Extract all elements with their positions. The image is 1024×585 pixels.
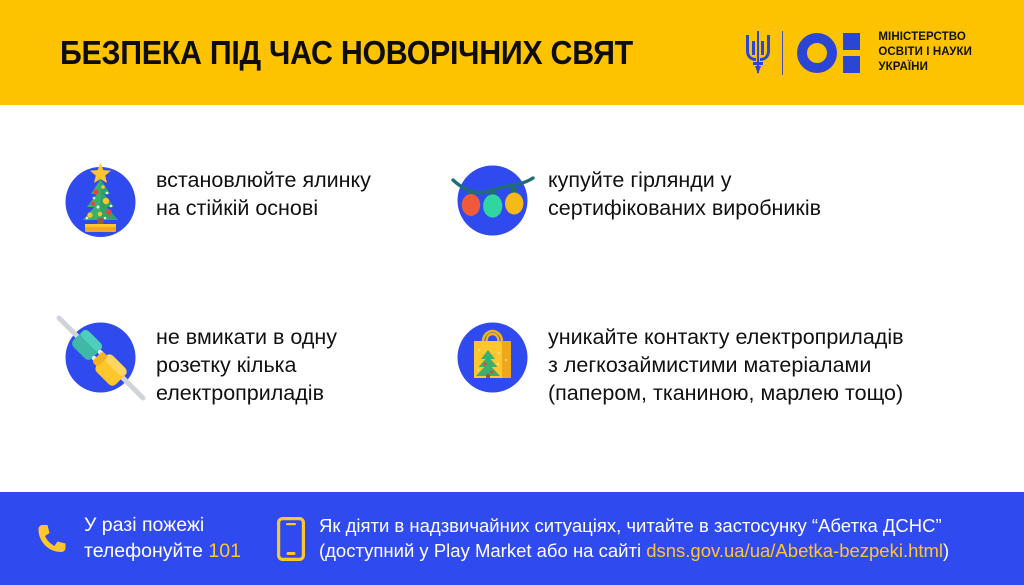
tip-text: уникайте контакту електроприладів з легк… (548, 320, 904, 408)
emergency-number: 101 (208, 540, 241, 562)
tip-line: (папером, тканиною, марлею тощо) (548, 380, 904, 408)
header-bar: БЕЗПЕКА ПІД ЧАС НОВОРІЧНИХ СВЯТ (0, 0, 1024, 105)
tip-item: не вмикати в одну розетку кілька електро… (63, 320, 453, 408)
logo-squares-icon (843, 33, 860, 73)
ukraine-trident-icon (744, 29, 772, 77)
garland-lights-icon (455, 163, 530, 238)
ministry-line-1: МІНІСТЕРСТВО (878, 30, 972, 45)
tip-text: купуйте гірлянди у сертифікованих виробн… (548, 163, 821, 223)
tip-line: електроприладів (156, 380, 337, 408)
app-line-2-suffix: ) (943, 540, 949, 561)
tip-text: встановлюйте ялинку на стійкій основі (156, 163, 371, 223)
tip-text: не вмикати в одну розетку кілька електро… (156, 320, 337, 408)
app-line-1: Як діяти в надзвичайних ситуаціях, читай… (319, 514, 949, 538)
app-promo: Як діяти в надзвичайних ситуаціях, читай… (277, 514, 949, 563)
power-plug-socket-icon (63, 320, 138, 395)
emergency-line-1: У разі пожежі (84, 513, 241, 539)
tip-item: встановлюйте ялинку на стійкій основі (63, 163, 453, 238)
ministry-name: МІНІСТЕРСТВО ОСВІТИ І НАУКИ УКРАЇНИ (878, 30, 972, 76)
tip-item: купуйте гірлянди у сертифікованих виробн… (455, 163, 975, 238)
emergency-prefix: телефонуйте (84, 540, 208, 562)
tip-line: з легкозаймистими матеріалами (548, 352, 904, 380)
emergency-line-2: телефонуйте 101 (84, 539, 241, 565)
infographic-page: БЕЗПЕКА ПІД ЧАС НОВОРІЧНИХ СВЯТ (0, 0, 1024, 585)
phone-handset-icon (36, 522, 70, 556)
mon-logo-mark (797, 33, 860, 73)
logo-circle-icon (797, 33, 837, 73)
tip-line: встановлюйте ялинку (156, 167, 371, 195)
dsns-link[interactable]: dsns.gov.ua/ua/Abetka-bezpeki.html (646, 540, 943, 561)
logo-divider (782, 31, 784, 75)
ministry-logo: МІНІСТЕРСТВО ОСВІТИ І НАУКИ УКРАЇНИ (744, 29, 972, 77)
tip-line: купуйте гірлянди у (548, 167, 821, 195)
mobile-phone-icon (277, 517, 305, 561)
page-title: БЕЗПЕКА ПІД ЧАС НОВОРІЧНИХ СВЯТ (60, 34, 633, 72)
tips-area: встановлюйте ялинку на стійкій основі (0, 105, 1024, 492)
ministry-line-2: ОСВІТИ І НАУКИ (878, 45, 972, 60)
tip-line: на стійкій основі (156, 195, 371, 223)
tip-line: розетку кілька (156, 352, 337, 380)
tip-line: сертифікованих виробників (548, 195, 821, 223)
tip-item: уникайте контакту електроприладів з легк… (455, 320, 1000, 408)
emergency-contact: У разі пожежі телефонуйте 101 (36, 513, 241, 564)
christmas-tree-icon (63, 163, 138, 238)
footer-bar: У разі пожежі телефонуйте 101 Як діяти в… (0, 492, 1024, 585)
tip-line: не вмикати в одну (156, 324, 337, 352)
app-line-2-prefix: (доступний у Play Market або на сайті (319, 540, 646, 561)
app-line-2: (доступний у Play Market або на сайті ds… (319, 539, 949, 563)
tip-line: уникайте контакту електроприладів (548, 324, 904, 352)
shopping-bag-tree-icon (455, 320, 530, 395)
app-text: Як діяти в надзвичайних ситуаціях, читай… (319, 514, 949, 563)
emergency-text: У разі пожежі телефонуйте 101 (84, 513, 241, 564)
ministry-line-3: УКРАЇНИ (878, 60, 972, 75)
